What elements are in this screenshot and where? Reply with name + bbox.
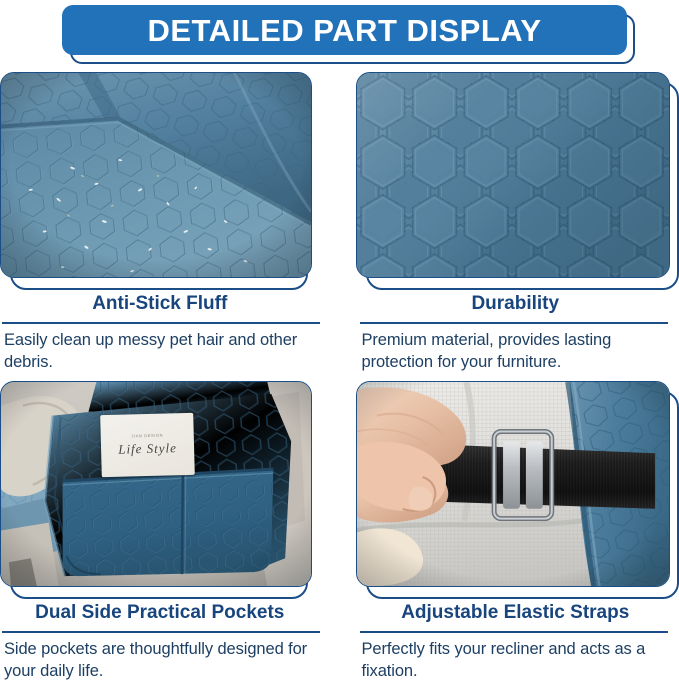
card-title: Durability: [356, 292, 676, 316]
magazine-brand: JIAN DESIGN: [131, 433, 163, 439]
feature-card-anti-stick-fluff: Anti-Stick Fluff Easily clean up messy p…: [0, 72, 340, 373]
card-body-text: Easily clean up messy pet hair and other…: [0, 329, 320, 373]
card-body-text: Side pockets are thoughtfully designed f…: [0, 638, 320, 682]
photo-frame: [356, 381, 676, 587]
caption-block: Adjustable Elastic Straps Perfectly fits…: [356, 587, 676, 682]
feature-row-1: Anti-Stick Fluff Easily clean up messy p…: [0, 72, 679, 373]
feature-card-durability: Durability Premium material, provides la…: [340, 72, 679, 373]
page-title: DETAILED PART DISPLAY: [147, 15, 541, 46]
photo-durability[interactable]: [356, 72, 670, 278]
magazine-title: Life Style: [118, 440, 177, 458]
card-title: Dual Side Practical Pockets: [0, 601, 320, 625]
card-body-text: Premium material, provides lasting prote…: [356, 329, 668, 373]
feature-row-2: JIAN DESIGN Life Style Dual Side Practic…: [0, 381, 679, 682]
photo-frame: [0, 72, 320, 278]
feature-card-adjustable-elastic-straps: Adjustable Elastic Straps Perfectly fits…: [340, 381, 679, 682]
photo-frame: [356, 72, 676, 278]
caption-block: Anti-Stick Fluff Easily clean up messy p…: [0, 278, 320, 373]
title-divider: [2, 631, 320, 633]
title-divider: [2, 322, 320, 324]
caption-block: Dual Side Practical Pockets Side pockets…: [0, 587, 320, 682]
feature-grid: Anti-Stick Fluff Easily clean up messy p…: [0, 72, 679, 682]
magazine-in-pocket: JIAN DESIGN Life Style: [100, 413, 195, 477]
feature-card-dual-side-practical-pockets: JIAN DESIGN Life Style Dual Side Practic…: [0, 381, 340, 682]
header-banner: DETAILED PART DISPLAY: [0, 0, 679, 72]
banner-fill-shape: DETAILED PART DISPLAY: [62, 5, 627, 55]
photo-adjustable-straps[interactable]: [356, 381, 670, 587]
photo-anti-stick-fluff[interactable]: [0, 72, 312, 278]
product-detail-page: DETAILED PART DISPLAY: [0, 0, 679, 682]
title-divider: [360, 322, 668, 324]
card-title: Adjustable Elastic Straps: [356, 601, 676, 625]
title-divider: [360, 631, 668, 633]
photo-frame: JIAN DESIGN Life Style: [0, 381, 320, 587]
card-title: Anti-Stick Fluff: [0, 292, 320, 316]
caption-block: Durability Premium material, provides la…: [356, 278, 676, 373]
card-body-text: Perfectly fits your recliner and acts as…: [356, 638, 668, 682]
photo-dual-side-pockets[interactable]: JIAN DESIGN Life Style: [0, 381, 312, 587]
